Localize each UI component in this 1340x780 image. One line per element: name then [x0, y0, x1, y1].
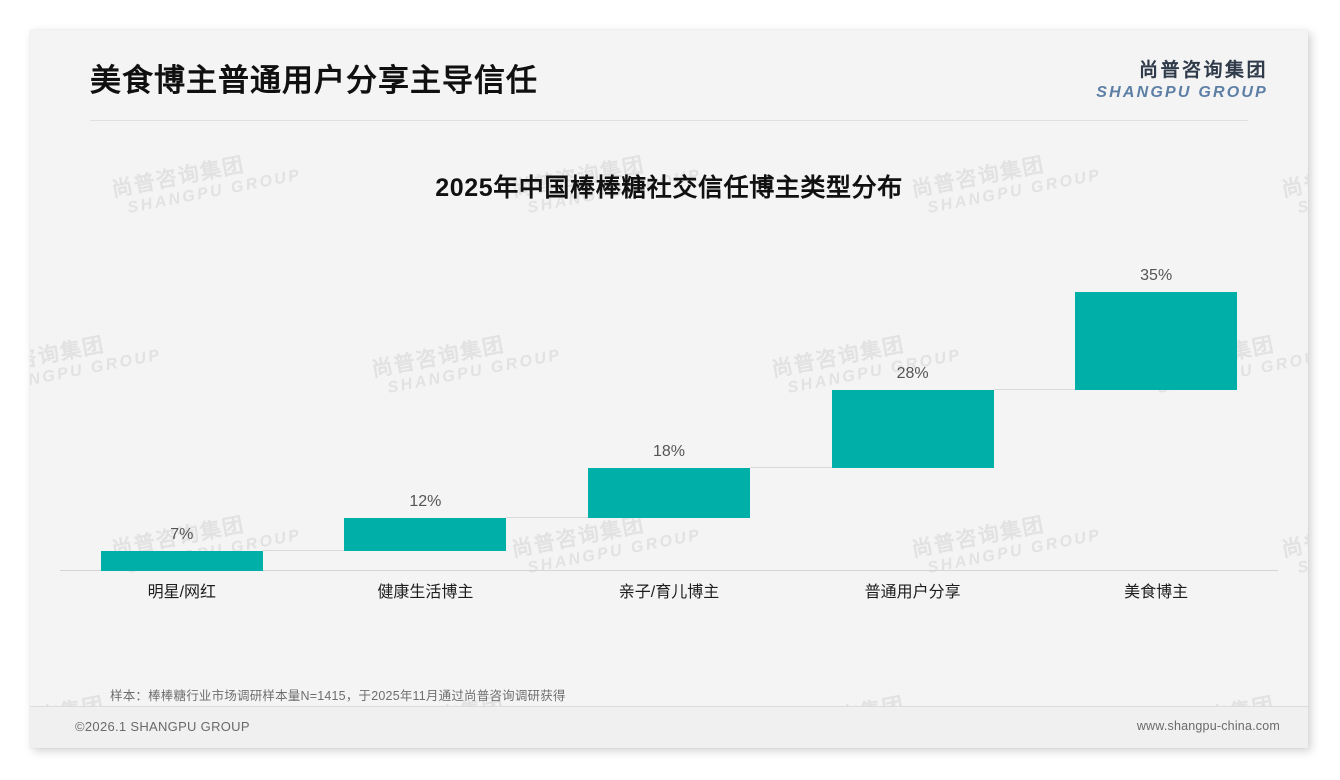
bar-2[interactable] [344, 518, 506, 551]
x-axis-category-labels: 明星/网红健康生活博主亲子/育儿博主普通用户分享美食博主 [60, 578, 1278, 608]
brand-logo: 尚普咨询集团 SHANGPU GROUP [1096, 55, 1268, 102]
waterfall-connector-2 [506, 517, 588, 518]
bar-value-label-5: 35% [1075, 267, 1237, 285]
footer-website: www.shangpu-china.com [1137, 719, 1280, 733]
bar-1[interactable] [101, 551, 263, 571]
watermark-text: 尚普咨询集团SHANGPU GROUP [1280, 504, 1308, 579]
category-label-4: 普通用户分享 [791, 578, 1035, 608]
waterfall-connector-1 [263, 550, 345, 551]
footer-copyright: ©2026.1 SHANGPU GROUP [75, 719, 250, 734]
slide-footer: ©2026.1 SHANGPU GROUP www.shangpu-china.… [30, 707, 1308, 748]
page-title: 美食博主普通用户分享主导信任 [90, 55, 538, 100]
bar-3[interactable] [588, 468, 750, 518]
header-divider [90, 120, 1248, 121]
waterfall-connector-4 [994, 389, 1076, 390]
category-label-5: 美食博主 [1034, 578, 1278, 608]
bar-5[interactable] [1075, 292, 1237, 390]
category-label-3: 亲子/育儿博主 [547, 578, 791, 608]
waterfall-connector-3 [750, 467, 832, 468]
bar-value-label-3: 18% [588, 443, 750, 461]
logo-chinese-text: 尚普咨询集团 [1096, 55, 1268, 82]
screenshot-stage: 尚普咨询集团SHANGPU GROUP尚普咨询集团SHANGPU GROUP尚普… [0, 0, 1340, 780]
category-label-2: 健康生活博主 [304, 578, 548, 608]
bar-value-label-4: 28% [832, 365, 994, 383]
slide-header: 美食博主普通用户分享主导信任 尚普咨询集团 SHANGPU GROUP [30, 30, 1308, 120]
source-note: 样本：棒棒糖行业市场调研样本量N=1415，于2025年11月通过尚普咨询调研获… [110, 685, 566, 704]
logo-english-text: SHANGPU GROUP [1096, 84, 1268, 102]
bar-4[interactable] [832, 390, 994, 468]
bar-value-label-2: 12% [344, 493, 506, 511]
slide-card: 尚普咨询集团SHANGPU GROUP尚普咨询集团SHANGPU GROUP尚普… [30, 30, 1308, 748]
waterfall-chart-plot: 7%12%18%28%35% [60, 200, 1278, 571]
chart-title: 2025年中国棒棒糖社交信任博主类型分布 [30, 168, 1308, 204]
bar-value-label-1: 7% [101, 526, 263, 544]
category-label-1: 明星/网红 [60, 578, 304, 608]
